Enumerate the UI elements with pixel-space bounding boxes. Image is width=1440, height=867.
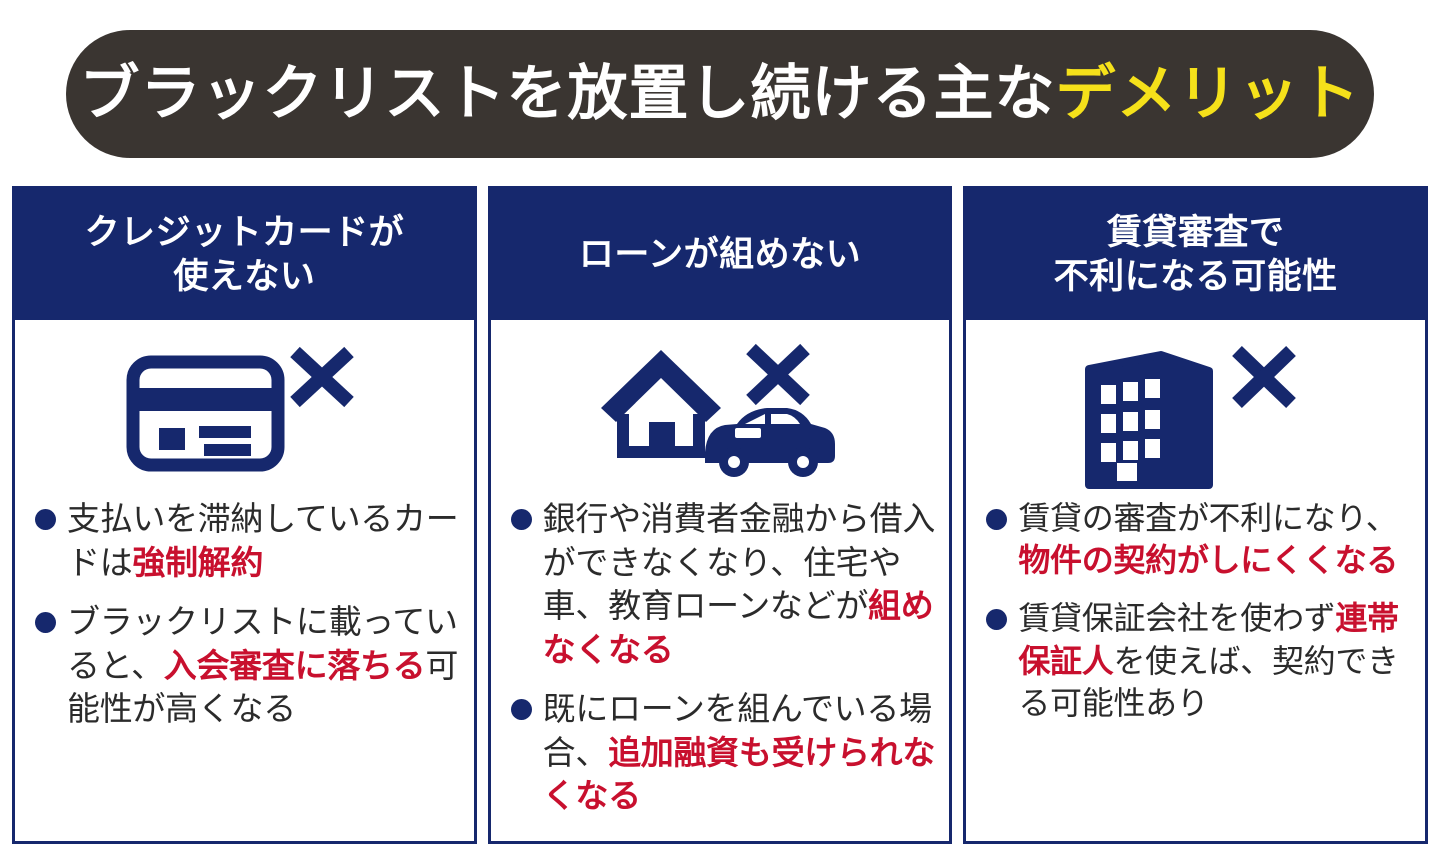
columns-container: クレジットカードが 使えない [12,186,1428,844]
card-body-rental: 賃貸の審査が不利になり、物件の契約がしにくくなる 賃貸保証会社を使わず連帯保証人… [966,320,1425,841]
card-stripe [133,388,278,411]
card-header-label: ローンが組めない [579,233,861,277]
card-body-loan: 銀行や消費者金融から借入ができなくなり、住宅や車、教育ローンなどが組めなくなる … [491,320,950,844]
bullet-text: 賃貸の審査が不利になり、物件の契約がしにくくなる [1018,497,1411,581]
bullet-dot-icon [35,612,56,633]
card-rental: 賃貸審査で 不利になる可能性 [963,186,1428,844]
infographic-root: ブラックリストを放置し続ける主なデメリット クレジットカードが 使えない [0,0,1440,867]
car-icon [705,408,835,477]
bullet-dot-icon [511,699,532,720]
list-item: 賃貸の審査が不利になり、物件の契約がしにくくなる [986,497,1411,581]
bullet-dot-icon [986,509,1007,530]
bullet-list: 支払いを滞納しているカードは強制解約 ブラックリストに載っていると、入会審査に落… [15,497,474,831]
title-banner: ブラックリストを放置し続ける主なデメリット [66,30,1374,158]
card-body-credit-card: 支払いを滞納しているカードは強制解約 ブラックリストに載っていると、入会審査に落… [15,320,474,841]
title-accent-text: デメリット [1056,60,1361,127]
apartment-building-x-icon [1071,337,1321,492]
list-item: ブラックリストに載っていると、入会審査に落ちる可能性が高くなる [35,600,460,731]
bullet-dot-icon [511,509,532,530]
card-header-rental: 賃貸審査で 不利になる可能性 [966,189,1425,320]
card-line-1 [199,426,251,438]
x-mark-icon [751,349,805,400]
card-header-label: 賃貸審査で 不利になる可能性 [1054,211,1338,299]
icon-area [966,332,1425,497]
bullet-text: 支払いを滞納しているカードは強制解約 [67,497,460,584]
icon-area [491,332,950,497]
bullet-dot-icon [35,509,56,530]
page-title: ブラックリストを放置し続ける主なデメリット [80,64,1361,124]
card-loan: ローンが組めない [488,186,953,844]
card-header-label: クレジットカードが 使えない [85,211,405,299]
list-item: 既にローンを組んでいる場合、追加融資も受けられなくなる [511,687,936,818]
list-item: 賃貸保証会社を使わず連帯保証人を使えば、契約できる可能性あり [986,597,1411,724]
card-header-credit-card: クレジットカードが 使えない [15,189,474,320]
bullet-text: 既にローンを組んでいる場合、追加融資も受けられなくなる [543,687,936,818]
credit-card-x-icon [119,340,369,490]
icon-area [15,332,474,497]
bullet-dot-icon [986,609,1007,630]
card-chip [159,428,185,450]
title-main-text: ブラックリストを放置し続ける主な [80,60,1056,127]
bullet-text: 賃貸保証会社を使わず連帯保証人を使えば、契約できる可能性あり [1018,597,1411,724]
bullet-list: 銀行や消費者金融から借入ができなくなり、住宅や車、教育ローンなどが組めなくなる … [491,497,950,834]
card-header-loan: ローンが組めない [491,189,950,320]
x-mark-icon [295,352,349,402]
list-item: 支払いを滞納しているカードは強制解約 [35,497,460,584]
bullet-list: 賃貸の審査が不利になり、物件の契約がしにくくなる 賃貸保証会社を使わず連帯保証人… [966,497,1425,831]
bullet-text: 銀行や消費者金融から借入ができなくなり、住宅や車、教育ローンなどが組めなくなる [543,497,936,671]
card-line-2 [204,444,251,456]
card-credit-card: クレジットカードが 使えない [12,186,477,844]
x-mark-icon [1237,351,1291,403]
house-car-x-icon [589,340,851,490]
house-icon [601,350,721,458]
building-icon [1089,355,1209,485]
list-item: 銀行や消費者金融から借入ができなくなり、住宅や車、教育ローンなどが組めなくなる [511,497,936,671]
bullet-text: ブラックリストに載っていると、入会審査に落ちる可能性が高くなる [67,600,460,731]
house-door [649,422,675,458]
